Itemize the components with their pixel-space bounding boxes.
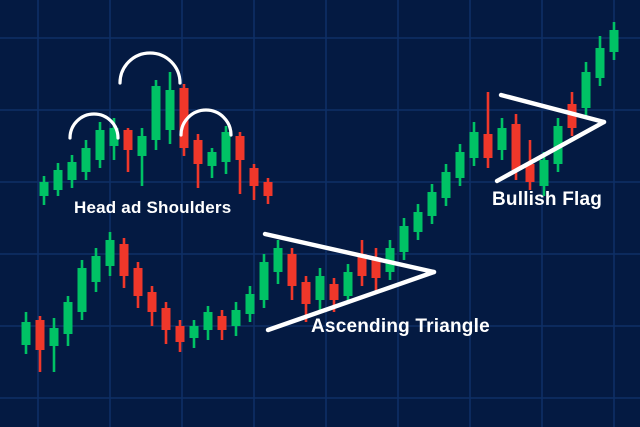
candle-body-down <box>162 308 171 330</box>
candle-body-down <box>288 254 297 286</box>
candle-body-up <box>54 170 63 190</box>
candle-body-up <box>540 160 549 186</box>
candle-body-up <box>442 172 451 198</box>
candle-body-down <box>120 244 129 276</box>
candle-body-up <box>82 148 91 172</box>
candle-body-up <box>610 30 619 52</box>
candle-body-up <box>344 272 353 296</box>
candle-body-down <box>194 140 203 164</box>
candle-body-up <box>260 262 269 300</box>
candle-body-up <box>498 128 507 150</box>
candlestick-chart-illustration: Head ad Shoulders Ascending Triangle Bul… <box>0 0 640 427</box>
candle-body-down <box>36 320 45 350</box>
candle-body-up <box>582 72 591 108</box>
candle-body-up <box>222 132 231 162</box>
candle-body-up <box>316 276 325 300</box>
head-and-shoulders-label: Head ad Shoulders <box>74 198 231 218</box>
candle-body-up <box>428 192 437 216</box>
candle-body-up <box>40 182 49 196</box>
candle-body-down <box>484 134 493 158</box>
candle-body-down <box>124 130 133 150</box>
candle-body-up <box>78 268 87 312</box>
candle-body-up <box>456 152 465 178</box>
candle-body-up <box>414 212 423 232</box>
candle-body-up <box>190 326 199 338</box>
candle-body-down <box>330 284 339 300</box>
candle-body-down <box>148 292 157 312</box>
candle-body-up <box>596 48 605 78</box>
candle-body-up <box>204 312 213 330</box>
candle-body-down <box>176 326 185 342</box>
candle-body-up <box>138 136 147 156</box>
candle-body-up <box>232 310 241 326</box>
candle-body-down <box>250 168 259 186</box>
candle-body-down <box>218 316 227 330</box>
candle-body-up <box>68 162 77 180</box>
candle-body-up <box>50 328 59 346</box>
candle-body-up <box>92 256 101 282</box>
candle-body-up <box>246 294 255 314</box>
candle-body-up <box>274 248 283 272</box>
candle-body-up <box>64 302 73 334</box>
candle-body-down <box>512 124 521 170</box>
candle-body-up <box>22 322 31 345</box>
candle-body-down <box>264 182 273 196</box>
candle-body-down <box>134 268 143 296</box>
candle-body-up <box>106 240 115 266</box>
candle-body-down <box>236 136 245 160</box>
bullish-flag-label: Bullish Flag <box>492 189 602 211</box>
candle-body-up <box>152 86 161 140</box>
candle-body-up <box>96 130 105 160</box>
candle-body-down <box>302 282 311 304</box>
candle-body-up <box>208 152 217 166</box>
ascending-triangle-label: Ascending Triangle <box>311 316 490 338</box>
candle-body-up <box>166 90 175 130</box>
candle-body-up <box>470 132 479 158</box>
candle-body-up <box>400 226 409 252</box>
